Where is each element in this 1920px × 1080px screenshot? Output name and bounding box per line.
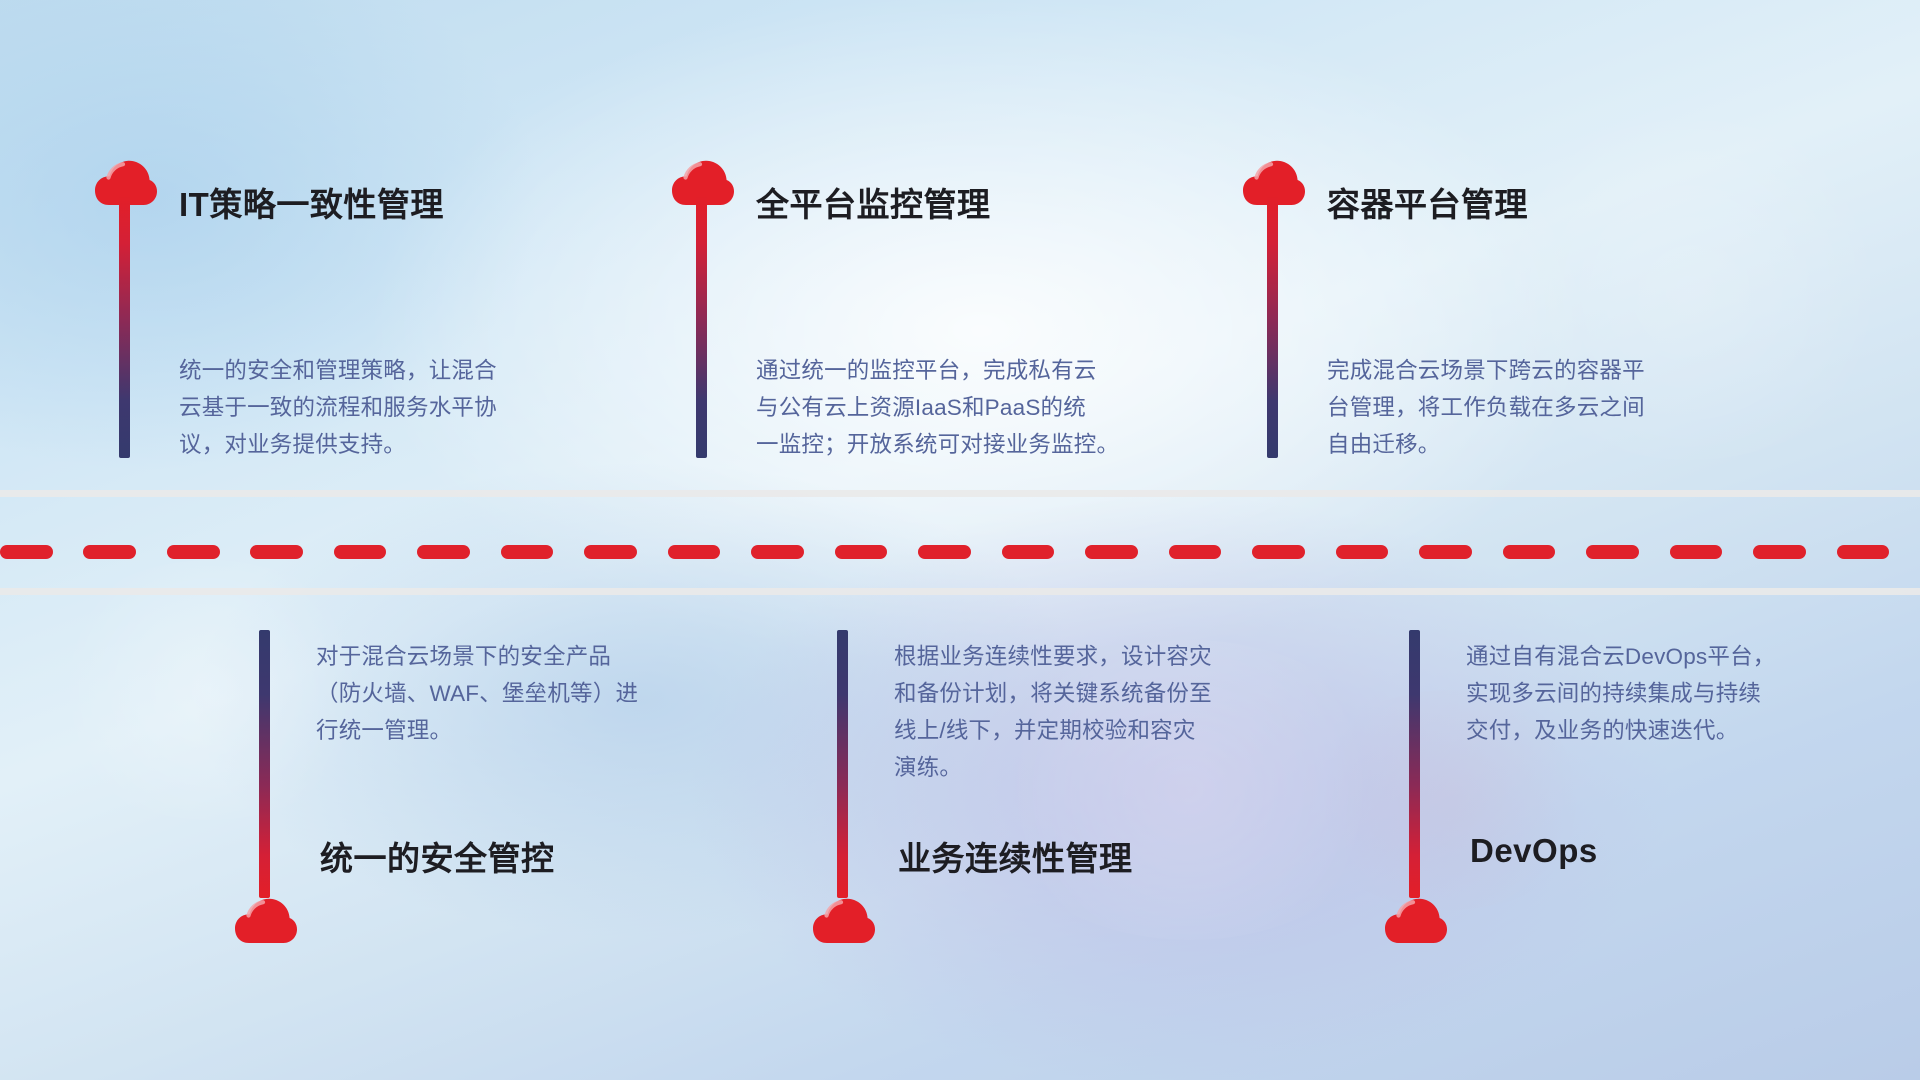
cloud-icon bbox=[1385, 898, 1447, 944]
connector-stem bbox=[837, 630, 848, 898]
divider-dash bbox=[1586, 545, 1639, 559]
divider-dash bbox=[1419, 545, 1472, 559]
divider-dash bbox=[751, 545, 804, 559]
body-line: 通过自有混合云DevOps平台， bbox=[1466, 638, 1866, 675]
body-line: 对于混合云场景下的安全产品 bbox=[316, 638, 716, 675]
divider-dash bbox=[668, 545, 721, 559]
infographic-canvas: IT策略一致性管理 统一的安全和管理策略，让混合 云基于一致的流程和服务水平协 … bbox=[0, 0, 1920, 1080]
body-line: 演练。 bbox=[894, 749, 1294, 786]
divider-dash bbox=[584, 545, 637, 559]
body-line: 通过统一的监控平台，完成私有云 bbox=[756, 352, 1156, 389]
divider-dash bbox=[0, 545, 53, 559]
divider-dash bbox=[167, 545, 220, 559]
body-line: 交付，及业务的快速迭代。 bbox=[1466, 712, 1866, 749]
body-line: 和备份计划，将关键系统备份至 bbox=[894, 675, 1294, 712]
divider-dash bbox=[918, 545, 971, 559]
top-card-2-body: 通过统一的监控平台，完成私有云 与公有云上资源IaaS和PaaS的统 一监控；开… bbox=[756, 352, 1156, 463]
divider-dash bbox=[1002, 545, 1055, 559]
divider-rule-top bbox=[0, 490, 1920, 497]
divider-dash bbox=[501, 545, 554, 559]
connector-stem bbox=[259, 630, 270, 898]
divider-dash bbox=[250, 545, 303, 559]
divider-dash bbox=[1670, 545, 1723, 559]
body-line: 实现多云间的持续集成与持续 bbox=[1466, 675, 1866, 712]
cloud-icon bbox=[813, 898, 875, 944]
divider-dash bbox=[1503, 545, 1556, 559]
connector-stem bbox=[1409, 630, 1420, 898]
body-line: 线上/线下，并定期校验和容灾 bbox=[894, 712, 1294, 749]
bottom-card-1-title: 统一的安全管控 bbox=[320, 832, 555, 880]
divider-dash bbox=[1837, 545, 1890, 559]
divider-rule-bottom bbox=[0, 588, 1920, 595]
divider-dash bbox=[1336, 545, 1389, 559]
divider-dash bbox=[1252, 545, 1305, 559]
bottom-card-2-title: 业务连续性管理 bbox=[898, 832, 1133, 880]
body-line: 台管理，将工作负载在多云之间 bbox=[1327, 389, 1727, 426]
top-card-2-title: 全平台监控管理 bbox=[756, 178, 991, 226]
bottom-card-2-body: 根据业务连续性要求，设计容灾 和备份计划，将关键系统备份至 线上/线下，并定期校… bbox=[894, 638, 1294, 786]
connector-stem bbox=[1267, 196, 1278, 458]
connector-stem bbox=[119, 196, 130, 458]
body-line: 根据业务连续性要求，设计容灾 bbox=[894, 638, 1294, 675]
top-card-3-body: 完成混合云场景下跨云的容器平 台管理，将工作负载在多云之间 自由迁移。 bbox=[1327, 352, 1727, 463]
bottom-card-3-title: DevOps bbox=[1470, 832, 1598, 870]
body-line: （防火墙、WAF、堡垒机等）进 bbox=[316, 675, 716, 712]
body-line: 统一的安全和管理策略，让混合 bbox=[179, 352, 579, 389]
bottom-card-3-body: 通过自有混合云DevOps平台， 实现多云间的持续集成与持续 交付，及业务的快速… bbox=[1466, 638, 1866, 749]
connector-stem bbox=[696, 196, 707, 458]
divider-dash bbox=[835, 545, 888, 559]
divider-dash bbox=[1169, 545, 1222, 559]
top-card-3-title: 容器平台管理 bbox=[1327, 178, 1528, 226]
divider-dash bbox=[334, 545, 387, 559]
body-line: 完成混合云场景下跨云的容器平 bbox=[1327, 352, 1727, 389]
body-line: 议，对业务提供支持。 bbox=[179, 426, 579, 463]
divider-dash bbox=[1085, 545, 1138, 559]
divider-dash bbox=[1753, 545, 1806, 559]
body-line: 一监控；开放系统可对接业务监控。 bbox=[756, 426, 1156, 463]
bottom-card-1-body: 对于混合云场景下的安全产品 （防火墙、WAF、堡垒机等）进 行统一管理。 bbox=[316, 638, 716, 749]
top-card-1-title: IT策略一致性管理 bbox=[179, 178, 444, 226]
divider-dash bbox=[83, 545, 136, 559]
body-line: 自由迁移。 bbox=[1327, 426, 1727, 463]
divider-dashed-line bbox=[0, 545, 1920, 559]
body-line: 与公有云上资源IaaS和PaaS的统 bbox=[756, 389, 1156, 426]
body-line: 云基于一致的流程和服务水平协 bbox=[179, 389, 579, 426]
body-line: 行统一管理。 bbox=[316, 712, 716, 749]
top-card-1-body: 统一的安全和管理策略，让混合 云基于一致的流程和服务水平协 议，对业务提供支持。 bbox=[179, 352, 579, 463]
cloud-icon bbox=[235, 898, 297, 944]
divider-dash bbox=[417, 545, 470, 559]
